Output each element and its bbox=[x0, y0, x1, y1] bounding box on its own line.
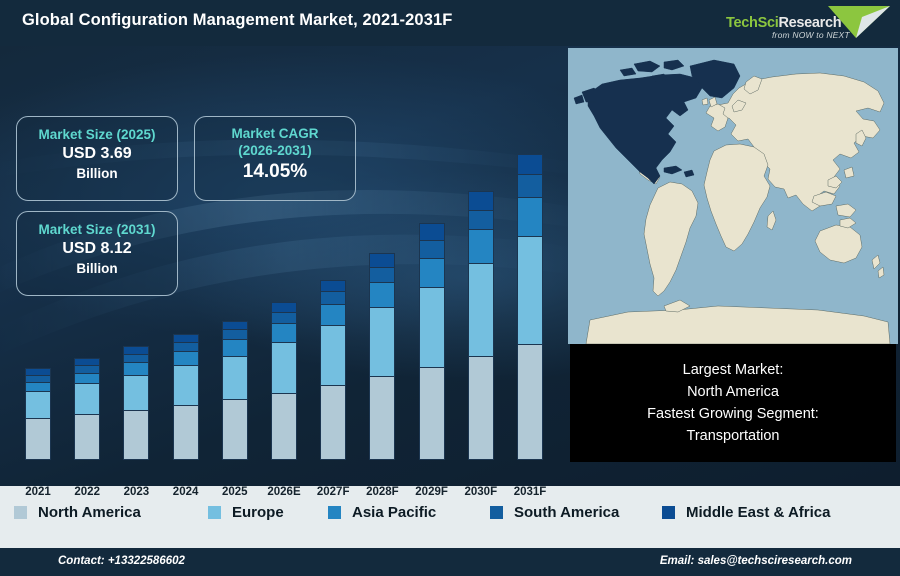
footer-bar: Contact: +13322586602 Email: sales@techs… bbox=[0, 548, 900, 576]
bar-segment-north-america bbox=[173, 405, 199, 460]
bar-segment-south-america bbox=[222, 329, 248, 339]
fastest-segment-value: Transportation bbox=[687, 425, 780, 447]
bar-segment-south-america bbox=[271, 312, 297, 324]
bar-segment-south-america bbox=[74, 365, 100, 373]
bar-segment-north-america bbox=[468, 356, 494, 460]
bar-2030F bbox=[468, 191, 494, 460]
bar-segment-europe bbox=[25, 391, 51, 418]
bar-segment-europe bbox=[517, 236, 543, 343]
bar-segment-asia-pacific bbox=[123, 362, 149, 374]
bar-segment-europe bbox=[222, 356, 248, 400]
bar-segment-europe bbox=[173, 365, 199, 404]
bar-segment-asia-pacific bbox=[222, 339, 248, 355]
bar-segment-europe bbox=[74, 383, 100, 414]
bar-segment-asia-pacific bbox=[74, 373, 100, 384]
logo-wordmark: TechSciResearch bbox=[726, 15, 841, 31]
bar-segment-europe bbox=[271, 342, 297, 393]
bar-segment-asia-pacific bbox=[173, 351, 199, 365]
bar-segment-europe bbox=[123, 375, 149, 410]
bar-segment-europe bbox=[369, 307, 395, 376]
footer-contact: Contact: +13322586602 bbox=[58, 555, 185, 567]
legend-item-europe[interactable]: Europe bbox=[208, 504, 284, 521]
largest-market-value: North America bbox=[687, 381, 779, 403]
legend-item-middle-east-africa[interactable]: Middle East & Africa bbox=[662, 504, 830, 521]
legend-label: Europe bbox=[232, 504, 284, 521]
legend-swatch-icon bbox=[328, 506, 341, 519]
legend-item-south-america[interactable]: South America bbox=[490, 504, 619, 521]
bar-segment-middle-east-africa bbox=[123, 346, 149, 354]
bar-2021 bbox=[25, 368, 51, 460]
key-insights-box: Largest Market: North America Fastest Gr… bbox=[570, 344, 896, 462]
bar-2024 bbox=[173, 334, 199, 460]
legend-swatch-icon bbox=[208, 506, 221, 519]
bar-segment-europe bbox=[419, 287, 445, 367]
bar-segment-middle-east-africa bbox=[468, 191, 494, 210]
footer-email: Email: sales@techsciresearch.com bbox=[660, 555, 852, 567]
bar-2028F bbox=[369, 253, 395, 460]
legend-swatch-icon bbox=[662, 506, 675, 519]
bar-2025 bbox=[222, 321, 248, 460]
bar-segment-asia-pacific bbox=[271, 323, 297, 341]
chart-stage: Market Size (2025) USD 3.69 Billion Mark… bbox=[0, 46, 900, 486]
bar-segment-asia-pacific bbox=[517, 197, 543, 236]
bar-segment-north-america bbox=[74, 414, 100, 460]
bar-2027F bbox=[320, 280, 346, 460]
bar-2031F bbox=[517, 154, 543, 460]
legend-item-north-america[interactable]: North America bbox=[14, 504, 141, 521]
techsci-research-logo: TechSciResearch from NOW to NEXT bbox=[714, 2, 894, 44]
bar-segment-south-america bbox=[419, 240, 445, 257]
legend-item-asia-pacific[interactable]: Asia Pacific bbox=[328, 504, 436, 521]
header-bar: Global Configuration Management Market, … bbox=[0, 0, 900, 46]
bar-segment-north-america bbox=[419, 367, 445, 460]
bar-segment-south-america bbox=[369, 267, 395, 282]
world-map bbox=[568, 48, 898, 344]
bar-segment-north-america bbox=[222, 399, 248, 460]
fastest-segment-label: Fastest Growing Segment: bbox=[647, 403, 819, 425]
bar-segment-south-america bbox=[517, 174, 543, 197]
bar-segment-middle-east-africa bbox=[419, 223, 445, 240]
chart-legend: North AmericaEuropeAsia PacificSouth Ame… bbox=[0, 494, 900, 530]
logo-tagline: from NOW to NEXT bbox=[772, 30, 850, 40]
bar-segment-north-america bbox=[320, 385, 346, 460]
infographic-page: Global Configuration Management Market, … bbox=[0, 0, 900, 576]
bar-2026E bbox=[271, 302, 297, 460]
legend-label: Middle East & Africa bbox=[686, 504, 830, 521]
page-title: Global Configuration Management Market, … bbox=[22, 11, 452, 30]
bar-segment-asia-pacific bbox=[320, 304, 346, 325]
bar-segment-north-america bbox=[517, 344, 543, 460]
bar-segment-middle-east-africa bbox=[74, 358, 100, 366]
legend-label: North America bbox=[38, 504, 141, 521]
bar-segment-middle-east-africa bbox=[320, 280, 346, 291]
bar-segment-europe bbox=[468, 263, 494, 356]
bar-segment-middle-east-africa bbox=[271, 302, 297, 311]
bar-segment-asia-pacific bbox=[419, 258, 445, 287]
bar-2023 bbox=[123, 346, 149, 460]
stacked-bar-chart bbox=[0, 46, 568, 486]
bar-segment-south-america bbox=[468, 210, 494, 230]
bar-segment-north-america bbox=[123, 410, 149, 460]
bar-segment-asia-pacific bbox=[369, 282, 395, 307]
bar-segment-middle-east-africa bbox=[173, 334, 199, 342]
bar-segment-south-america bbox=[320, 291, 346, 304]
bar-segment-middle-east-africa bbox=[222, 321, 248, 329]
legend-swatch-icon bbox=[14, 506, 27, 519]
legend-label: South America bbox=[514, 504, 619, 521]
world-map-svg bbox=[568, 48, 898, 344]
bar-segment-middle-east-africa bbox=[369, 253, 395, 267]
bar-segment-asia-pacific bbox=[25, 382, 51, 391]
legend-label: Asia Pacific bbox=[352, 504, 436, 521]
legend-swatch-icon bbox=[490, 506, 503, 519]
bar-segment-south-america bbox=[123, 354, 149, 362]
bar-segment-south-america bbox=[173, 342, 199, 351]
bar-2022 bbox=[74, 358, 100, 460]
logo-brand-primary: TechSci bbox=[726, 15, 778, 31]
largest-market-label: Largest Market: bbox=[683, 359, 784, 381]
bar-segment-middle-east-africa bbox=[517, 154, 543, 174]
bar-segment-north-america bbox=[369, 376, 395, 460]
bar-segment-north-america bbox=[25, 418, 51, 460]
bar-segment-north-america bbox=[271, 393, 297, 460]
bar-segment-europe bbox=[320, 325, 346, 384]
bar-segment-middle-east-africa bbox=[25, 368, 51, 375]
bar-segment-south-america bbox=[25, 375, 51, 382]
bar-segment-asia-pacific bbox=[468, 229, 494, 263]
bar-2029F bbox=[419, 223, 445, 460]
logo-brand-secondary: Research bbox=[778, 15, 841, 31]
